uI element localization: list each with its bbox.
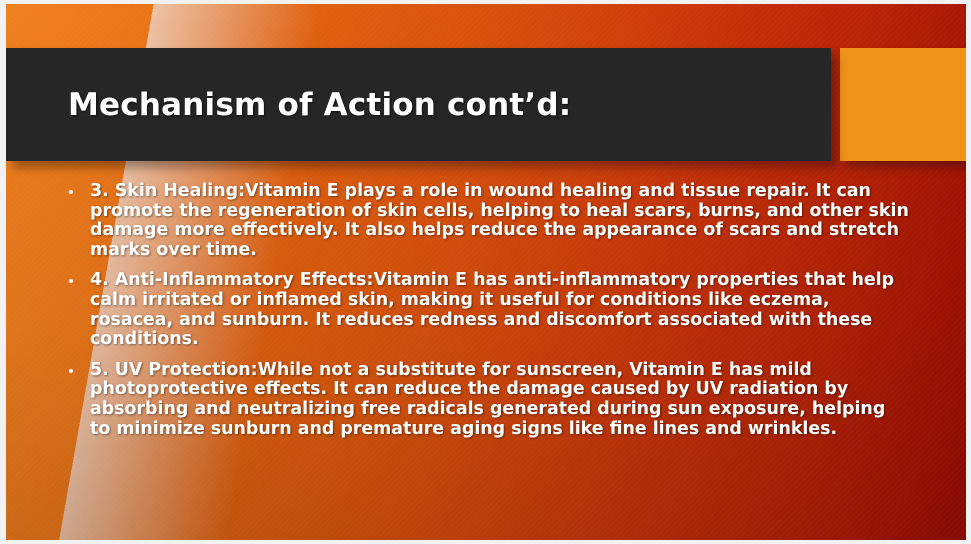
list-item: 4. Anti-Inflammatory Effects:Vitamin E h… xyxy=(62,271,910,349)
list-item-text: 5. UV Protection:While not a substitute … xyxy=(90,361,910,439)
slide-frame: Mechanism of Action cont’d: 3. Skin Heal… xyxy=(0,0,971,544)
title-bar: Mechanism of Action cont’d: xyxy=(6,48,831,161)
title-accent-block xyxy=(840,48,966,161)
list-item: 5. UV Protection:While not a substitute … xyxy=(62,361,910,439)
list-item-text: 3. Skin Healing:Vitamin E plays a role i… xyxy=(90,182,910,260)
list-item: 3. Skin Healing:Vitamin E plays a role i… xyxy=(62,182,910,260)
slide-canvas: Mechanism of Action cont’d: 3. Skin Heal… xyxy=(6,4,966,540)
list-item-text: 4. Anti-Inflammatory Effects:Vitamin E h… xyxy=(90,271,910,349)
slide-body: 3. Skin Healing:Vitamin E plays a role i… xyxy=(62,182,910,512)
slide-title: Mechanism of Action cont’d: xyxy=(68,87,571,123)
bullet-dot-icon xyxy=(69,190,73,194)
bullet-dot-icon xyxy=(69,279,73,283)
bullet-dot-icon xyxy=(69,369,73,373)
